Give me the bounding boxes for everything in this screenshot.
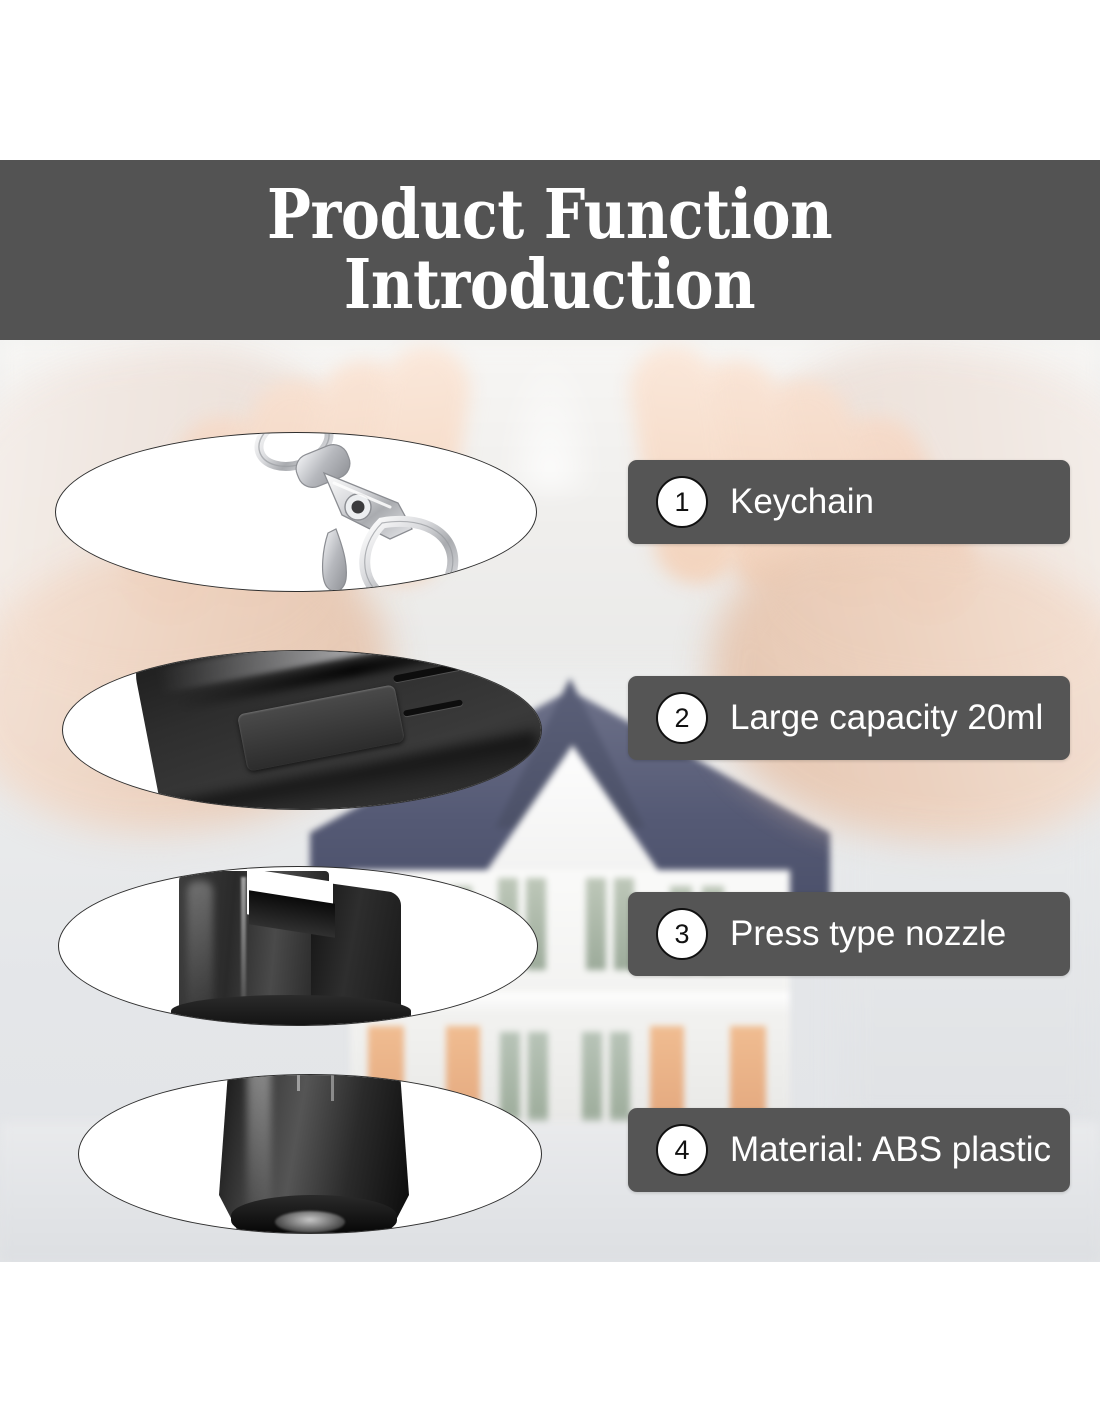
callout-oval-3 [58,866,538,1026]
bottom-white-strip [0,1262,1100,1422]
house-window [586,878,606,970]
feature-row-3[interactable]: 3 Press type nozzle [628,892,1070,976]
keychain-clasp-icon [56,433,536,591]
callout-oval-2 [62,650,542,810]
feature-row-2[interactable]: 2 Large capacity 20ml [628,676,1070,760]
top-white-strip [0,0,1100,160]
bottle-base-seam [297,1074,300,1091]
feature-number-badge-4: 4 [656,1124,708,1176]
bottle-body-icon [63,651,541,809]
nozzle-base-collar [171,995,411,1026]
bottle-base-icon [79,1075,541,1233]
feature-label-4: Material: ABS plastic [730,1130,1051,1170]
press-nozzle-icon [59,867,537,1025]
callout-oval-4 [78,1074,542,1234]
callout-oval-1 [55,432,537,592]
feature-number-badge-2: 2 [656,692,708,744]
house-window [610,1032,630,1124]
feature-label-2: Large capacity 20ml [730,698,1043,738]
feature-number-badge-1: 1 [656,476,708,528]
feature-row-1[interactable]: 1 Keychain [628,460,1070,544]
header-banner: Product Function Introduction [0,160,1100,340]
infographic-page: Product Function Introduction [0,0,1100,1422]
bottle-base-reflection [275,1211,345,1233]
feature-row-4[interactable]: 4 Material: ABS plastic [628,1108,1070,1192]
page-title: Product Function Introduction [259,180,841,320]
feature-label-3: Press type nozzle [730,914,1006,954]
house-window [582,1032,602,1124]
bottle-base-seam [331,1074,334,1101]
feature-number-badge-3: 3 [656,908,708,960]
feature-label-1: Keychain [730,482,874,522]
